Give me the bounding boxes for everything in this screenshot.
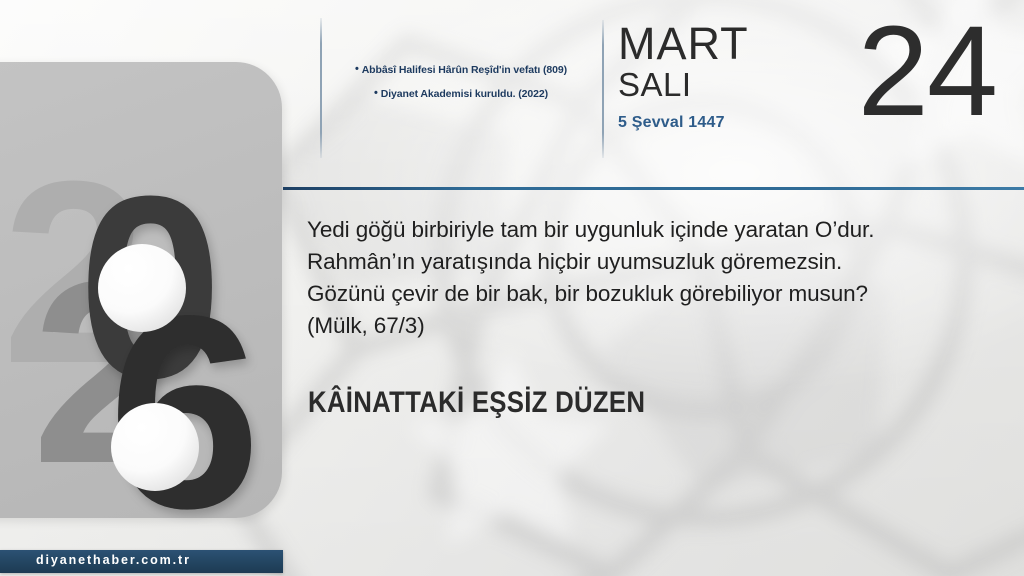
year-logo-panel: 2 2 0 6 [0, 62, 282, 518]
bullet-icon: • [355, 63, 359, 75]
bullet-icon: • [374, 87, 378, 99]
horizontal-rule [283, 187, 1024, 190]
page-title: KÂİNATTAKİ EŞSİZ DÜZEN [308, 386, 645, 420]
date-block: MART SALI 5 Şevval 1447 [618, 22, 749, 132]
list-item: •Diyanet Akademisi kuruldu. (2022) [330, 86, 592, 101]
list-item: •Abbâsî Halifesi Hârûn Reşîd'in vefatı (… [330, 62, 592, 77]
website-url[interactable]: diyanethaber.com.tr [36, 553, 191, 567]
event-text: Diyanet Akademisi kuruldu. (2022) [381, 88, 548, 100]
events-list: •Abbâsî Halifesi Hârûn Reşîd'in vefatı (… [330, 62, 592, 110]
event-text: Abbâsî Halifesi Hârûn Reşîd'in vefatı (8… [362, 64, 567, 76]
weekday-label: SALI [618, 68, 749, 103]
year-logo-2026: 2 2 0 6 [0, 162, 280, 576]
vertical-divider-right [602, 20, 604, 158]
vertical-divider-left [320, 18, 322, 158]
calendar-page: 2 2 0 6 •Abbâsî Halifesi Hârûn R [0, 0, 1024, 576]
verse-text: Yedi göğü birbiriyle tam bir uygunluk iç… [307, 214, 907, 342]
month-label: MART [618, 22, 749, 66]
hijri-date-label: 5 Şevval 1447 [618, 114, 749, 132]
day-number: 24 [858, 8, 996, 136]
